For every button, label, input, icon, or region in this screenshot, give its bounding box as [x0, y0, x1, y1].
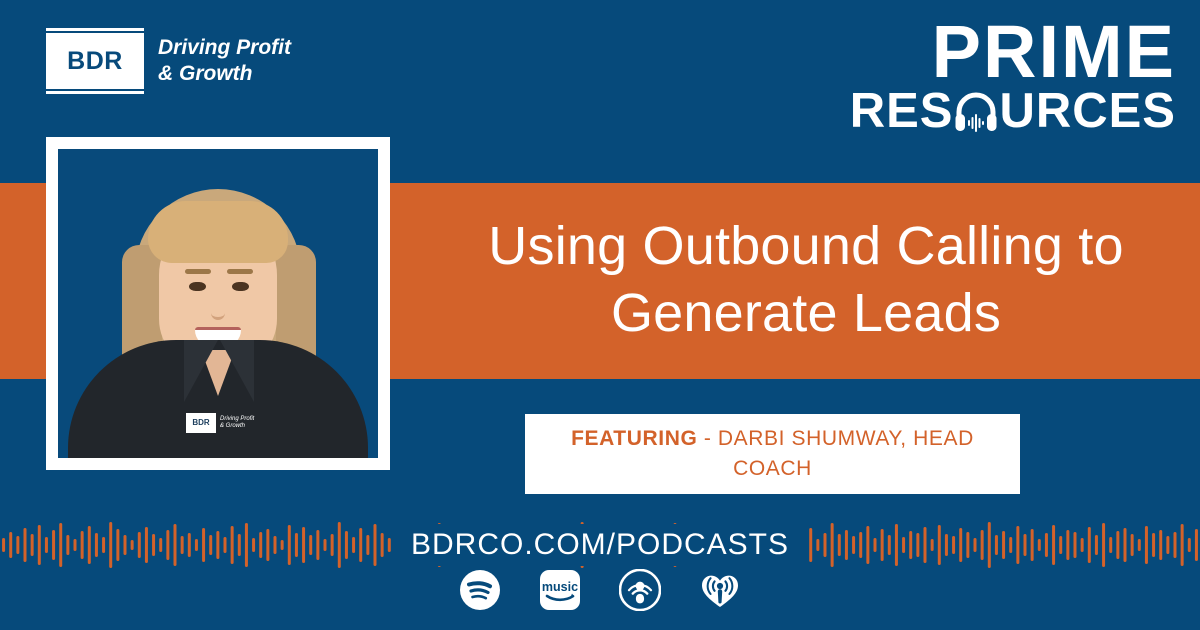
host-eye-right	[232, 282, 249, 291]
spotify-icon[interactable]	[459, 569, 501, 611]
host-collar-left	[184, 340, 218, 402]
host-eye-left	[189, 282, 206, 291]
headphone-icon	[954, 92, 998, 134]
featuring-text: FEATURING - DARBI SHUMWAY, HEAD COACH	[539, 424, 1006, 484]
host-eyebrow-right	[227, 269, 253, 274]
resources-wordmark: RES URCES	[850, 88, 1176, 135]
host-fringe	[148, 201, 288, 263]
shirt-badge-box: BDR	[186, 413, 216, 433]
shirt-badge-tagline: Driving Profit & Growth	[220, 416, 254, 431]
bdr-logo-box: BDR	[46, 33, 144, 89]
apple-podcasts-icon[interactable]	[619, 569, 661, 611]
svg-text:music: music	[542, 580, 578, 594]
shirt-bdr-badge: BDR Driving Profit & Growth	[186, 410, 260, 436]
bdr-logo-mark: BDR	[46, 28, 144, 94]
amazon-music-icon[interactable]: music	[539, 569, 581, 611]
featuring-detail: - DARBI SHUMWAY, HEAD COACH	[697, 427, 974, 480]
bdr-logo: BDR Driving Profit & Growth	[46, 28, 291, 94]
podcast-url[interactable]: BDRCO.COM/PODCASTS	[391, 524, 809, 566]
bdr-tagline: Driving Profit & Growth	[158, 35, 291, 86]
bdr-rule-bottom	[46, 91, 144, 94]
podcast-episode-poster: BDR Driving Profit & Growth PRIME RES	[0, 0, 1200, 630]
iheartradio-icon[interactable]	[699, 569, 741, 611]
bdr-rule-top	[46, 28, 144, 31]
resources-part-two: URCES	[999, 88, 1176, 135]
resources-part-one: RES	[850, 88, 954, 135]
host-photo-frame: BDR Driving Profit & Growth	[46, 137, 390, 470]
host-eyebrow-left	[185, 269, 211, 274]
host-photo: BDR Driving Profit & Growth	[58, 149, 378, 458]
host-collar-right	[220, 340, 254, 402]
episode-title: Using Outbound Calling to Generate Leads	[430, 213, 1182, 347]
shirt-badge-text: BDR	[192, 419, 209, 427]
prime-wordmark: PRIME	[850, 18, 1176, 86]
featuring-label: FEATURING	[571, 427, 697, 450]
prime-resources-logo: PRIME RES URCES	[850, 18, 1176, 135]
bdr-logo-text: BDR	[67, 49, 123, 74]
host-nose	[211, 299, 225, 320]
featuring-box: FEATURING - DARBI SHUMWAY, HEAD COACH	[525, 414, 1020, 494]
platform-icon-row: music	[0, 562, 1200, 618]
